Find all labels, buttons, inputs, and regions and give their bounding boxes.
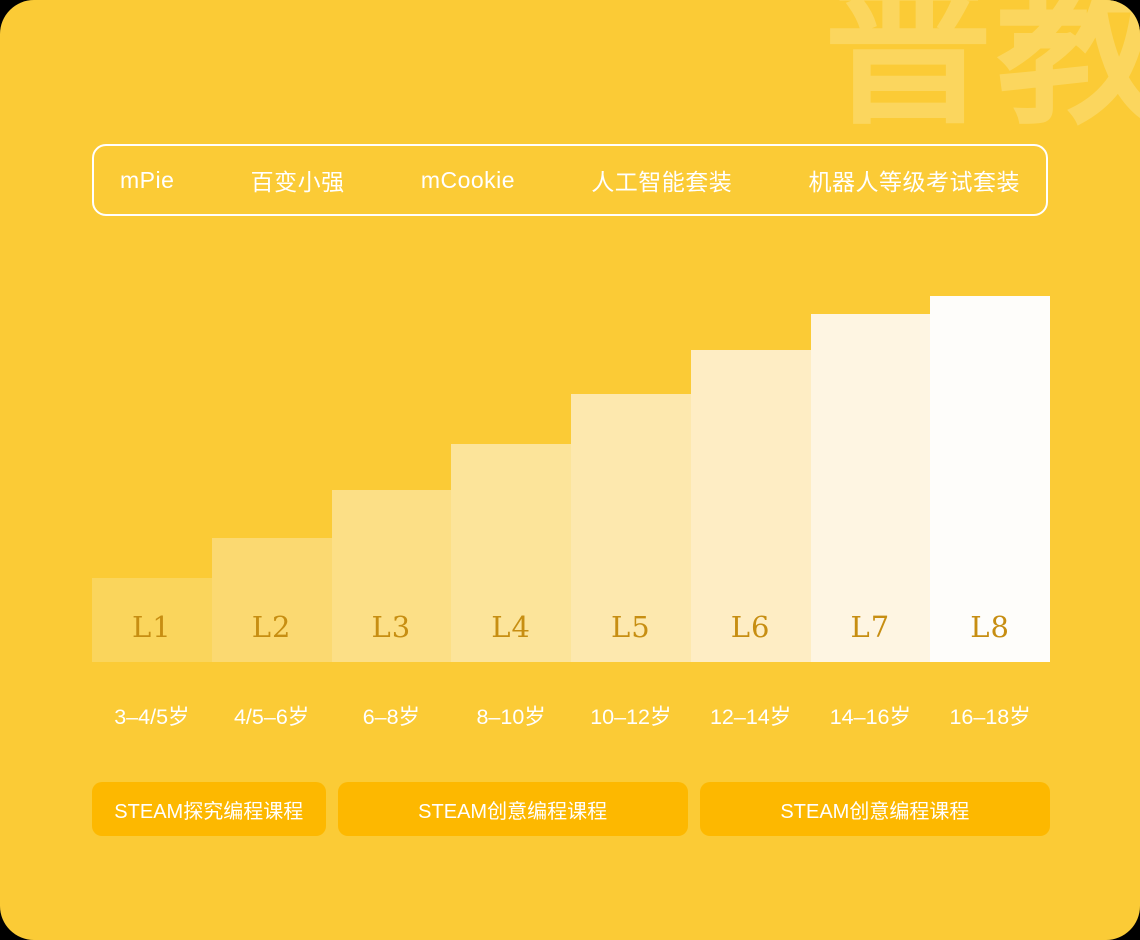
bar-label-l7: L7: [811, 610, 931, 644]
bar-label-l3: L3: [332, 610, 452, 644]
chart-bar-l3: L3: [332, 490, 452, 662]
course-button-explore[interactable]: STEAM探究编程课程: [92, 782, 326, 836]
age-label-l5: 10–12岁: [571, 700, 691, 731]
age-label-l4: 8–10岁: [451, 700, 571, 731]
age-range-row: 3–4/5岁 4/5–6岁 6–8岁 8–10岁 10–12岁 12–14岁 1…: [92, 700, 1050, 731]
bar-label-l1: L1: [92, 610, 212, 644]
chart-bar-l6: L6: [691, 350, 811, 662]
age-label-l7: 14–16岁: [811, 700, 931, 731]
age-label-l6: 12–14岁: [691, 700, 811, 731]
age-label-l3: 6–8岁: [332, 700, 452, 731]
bar-label-l4: L4: [451, 610, 571, 644]
tag-item-baibianxiaoqiang[interactable]: 百变小强: [251, 163, 345, 197]
bar-label-l8: L8: [930, 610, 1050, 644]
tag-item-ai-kit[interactable]: 人工智能套装: [591, 163, 732, 197]
age-label-l8: 16–18岁: [930, 700, 1050, 731]
age-label-l1: 3–4/5岁: [92, 700, 212, 731]
tag-item-robot-exam-kit[interactable]: 机器人等级考试套装: [808, 163, 1020, 197]
chart-bar-l8: L8: [930, 296, 1050, 662]
bar-label-l5: L5: [571, 610, 691, 644]
bar-label-l2: L2: [212, 610, 332, 644]
watermark-text: 普教: [824, 0, 1140, 134]
product-tag-bar: mPie 百变小强 mCookie 人工智能套装 机器人等级考试套装: [92, 144, 1048, 216]
chart-bar-l1: L1: [92, 578, 212, 662]
chart-bar-l5: L5: [571, 394, 691, 662]
chart-bar-l2: L2: [212, 538, 332, 662]
promo-card: 普教 mPie 百变小强 mCookie 人工智能套装 机器人等级考试套装 L1…: [0, 0, 1140, 940]
bar-label-l6: L6: [691, 610, 811, 644]
course-button-creative-1[interactable]: STEAM创意编程课程: [338, 782, 688, 836]
level-bar-chart: L1 L2 L3 L4 L5 L6 L7 L8: [92, 296, 1050, 662]
chart-bar-l7: L7: [811, 314, 931, 662]
course-button-creative-2[interactable]: STEAM创意编程课程: [700, 782, 1050, 836]
chart-bar-l4: L4: [451, 444, 571, 662]
tag-item-mpie[interactable]: mPie: [120, 167, 174, 194]
tag-item-mcookie[interactable]: mCookie: [421, 167, 515, 194]
age-label-l2: 4/5–6岁: [212, 700, 332, 731]
course-button-row: STEAM探究编程课程 STEAM创意编程课程 STEAM创意编程课程: [92, 782, 1050, 836]
